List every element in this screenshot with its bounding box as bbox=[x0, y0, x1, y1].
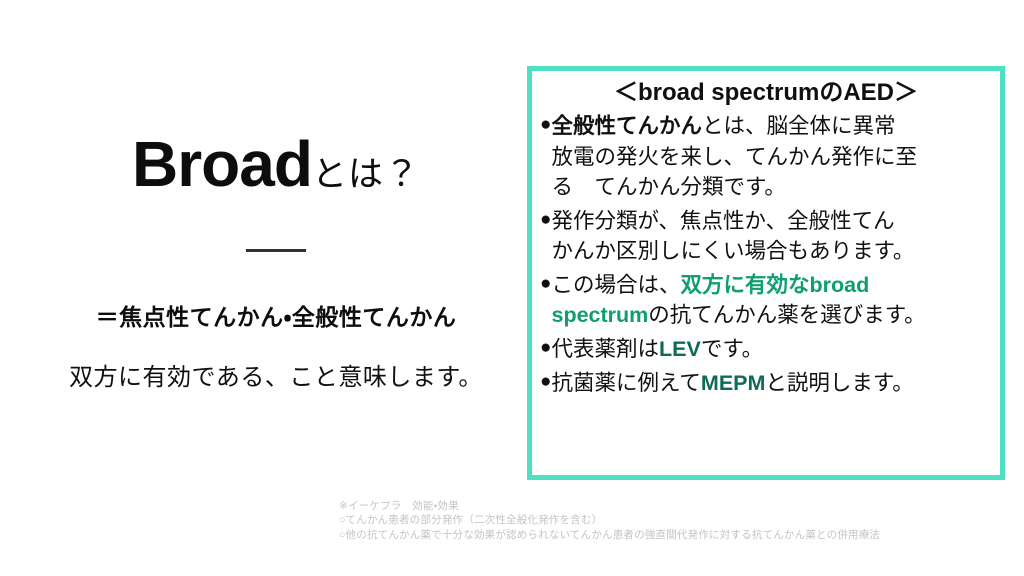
horizontal-rule-divider bbox=[246, 249, 306, 252]
bullet-plain-segment: の抗てんかん薬を選びます。 bbox=[648, 303, 925, 327]
bullet-accent-dark-segment: LEV bbox=[659, 337, 701, 361]
info-box-bullet: ●全般性てんかんとは、脳全体に異常放電の発火を来し、てんかん発作に至る てんかん… bbox=[540, 111, 992, 203]
bullet-plain-segment: 代表薬剤は bbox=[551, 337, 659, 361]
definition-subline: 双方に有効である、こと意味します。 bbox=[26, 357, 526, 392]
info-box-title: ＜broad spectrumのAED＞ bbox=[540, 77, 992, 109]
bullet-plain-segment: る てんかん分類です。 bbox=[551, 175, 785, 199]
footnote-line: ○てんかん患者の部分発作（二次性全般化発作を含む） bbox=[339, 513, 880, 527]
bullet-accent-segment: spectrum bbox=[551, 303, 648, 327]
bullet-accent-dark-segment: MEPM bbox=[701, 371, 766, 395]
bullet-text: この場合は、双方に有効なbroadspectrumの抗てんかん薬を選びます。 bbox=[551, 270, 992, 331]
bullet-text: 抗菌薬に例えてMEPMと説明します。 bbox=[551, 368, 992, 399]
bullet-text-line: かんか区別しにくい場合もあります。 bbox=[551, 236, 992, 267]
bullet-text: 発作分類が、焦点性か、全般性てんかんか区別しにくい場合もあります。 bbox=[551, 206, 992, 267]
left-content-column: Broadとは？ ＝焦点性てんかん・全般性てんかん 双方に有効である、こと意味し… bbox=[26, 132, 526, 392]
title-main-text: Broad bbox=[132, 128, 312, 200]
bullet-text-line: 放電の発火を来し、てんかん発作に至 bbox=[551, 142, 992, 173]
footnote-line: ○他の抗てんかん薬で十分な効果が認められないてんかん患者の強直間代発作に対する抗… bbox=[339, 528, 880, 542]
bullet-bold-segment: 全般性てんかん bbox=[551, 114, 702, 138]
title-suffix-text: とは？ bbox=[312, 155, 420, 194]
bullet-text-line: る てんかん分類です。 bbox=[551, 172, 992, 203]
info-box-bullet: ●抗菌薬に例えてMEPMと説明します。 bbox=[540, 368, 992, 399]
bullet-plain-segment: この場合は、 bbox=[551, 273, 680, 297]
bullet-text-line: 抗菌薬に例えてMEPMと説明します。 bbox=[551, 368, 992, 399]
bullet-text-line: spectrumの抗てんかん薬を選びます。 bbox=[551, 300, 992, 331]
bullet-text: 代表薬剤はLEVです。 bbox=[551, 334, 992, 365]
bullet-dot-icon: ● bbox=[540, 270, 551, 299]
info-box-bullet: ●発作分類が、焦点性か、全般性てんかんか区別しにくい場合もあります。 bbox=[540, 206, 992, 267]
bullet-text: 全般性てんかんとは、脳全体に異常放電の発火を来し、てんかん発作に至る てんかん分… bbox=[551, 111, 992, 203]
bullet-plain-segment: 発作分類が、焦点性か、全般性てん bbox=[551, 209, 894, 233]
bullet-plain-segment: と説明します。 bbox=[765, 371, 913, 395]
bullet-dot-icon: ● bbox=[540, 111, 551, 140]
footnote-line: ※イーケプラ 効能・効果 bbox=[339, 499, 880, 513]
bullet-plain-segment: です。 bbox=[701, 337, 763, 361]
bullet-accent-segment: 双方に有効なbroad bbox=[681, 273, 870, 297]
bullet-plain-segment: 放電の発火を来し、てんかん発作に至 bbox=[551, 145, 917, 169]
info-box: ＜broad spectrumのAED＞ ●全般性てんかんとは、脳全体に異常放電… bbox=[527, 66, 1005, 480]
bullet-text-line: 全般性てんかんとは、脳全体に異常 bbox=[551, 111, 992, 142]
divider-wrapper bbox=[26, 249, 526, 252]
bullet-plain-segment: 抗菌薬に例えて bbox=[551, 371, 700, 395]
footnote-block: ※イーケプラ 効能・効果○てんかん患者の部分発作（二次性全般化発作を含む）○他の… bbox=[339, 499, 880, 542]
bullet-dot-icon: ● bbox=[540, 206, 551, 235]
bullet-text-line: この場合は、双方に有効なbroad bbox=[551, 270, 992, 301]
bullet-dot-icon: ● bbox=[540, 368, 551, 397]
bullet-text-line: 代表薬剤はLEVです。 bbox=[551, 334, 992, 365]
definition-equation: ＝焦点性てんかん・全般性てんかん bbox=[26, 298, 526, 332]
bullet-dot-icon: ● bbox=[540, 334, 551, 363]
info-box-bullet-list: ●全般性てんかんとは、脳全体に異常放電の発火を来し、てんかん発作に至る てんかん… bbox=[540, 111, 992, 398]
bullet-text-line: 発作分類が、焦点性か、全般性てん bbox=[551, 206, 992, 237]
slide-canvas: Broadとは？ ＝焦点性てんかん・全般性てんかん 双方に有効である、こと意味し… bbox=[0, 0, 1024, 576]
info-box-bullet: ●この場合は、双方に有効なbroadspectrumの抗てんかん薬を選びます。 bbox=[540, 270, 992, 331]
info-box-bullet: ●代表薬剤はLEVです。 bbox=[540, 334, 992, 365]
page-title: Broadとは？ bbox=[26, 132, 526, 196]
bullet-plain-segment: とは、脳全体に異常 bbox=[702, 114, 896, 138]
bullet-plain-segment: かんか区別しにくい場合もあります。 bbox=[551, 239, 914, 263]
